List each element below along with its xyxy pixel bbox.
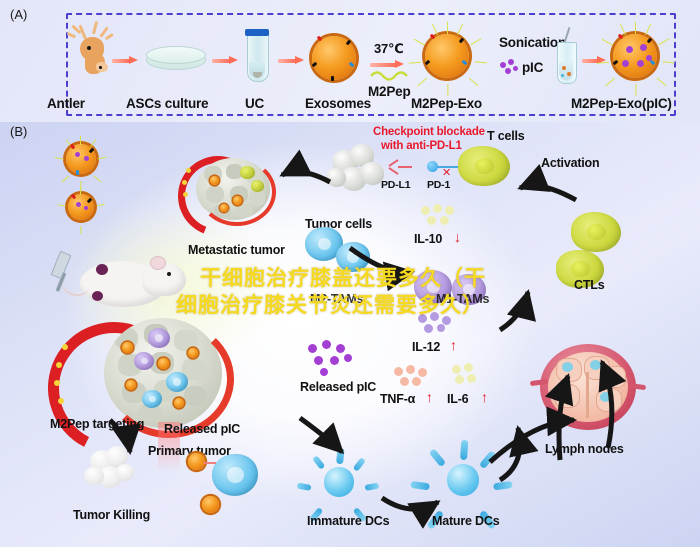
panel-b-label-il-6: IL-6 xyxy=(447,392,468,406)
panel-b-label-activation: Activation xyxy=(541,156,599,170)
panel-b-letter: (B) xyxy=(10,124,27,139)
panel-a-label-m2pep-exo: M2Pep-Exo xyxy=(411,96,482,111)
t-cell-icon xyxy=(458,146,510,186)
tnf-alpha-up-arrow-icon: ↑ xyxy=(426,390,433,404)
figure-root: (A) Antler ASCs culture xyxy=(0,0,700,547)
arrow-to-m2pep-exo-pic xyxy=(582,56,606,65)
panel-b-label-pd-1: PD-1 xyxy=(427,179,450,191)
ctl-cell-1-icon xyxy=(571,212,621,252)
panel-b-label-tnf-alpha: TNF-α xyxy=(380,392,415,406)
checkpoint-blockade-line1: Checkpoint blockade xyxy=(373,126,485,138)
panel-a-label-m2pep: M2Pep xyxy=(368,84,411,99)
panel-b: (B) xyxy=(0,122,700,547)
panel-b-label-pd-l1: PD-L1 xyxy=(381,179,410,191)
arrow-uc-to-exosomes xyxy=(278,56,304,65)
panel-b-label-tumor-killing: Tumor Killing xyxy=(73,508,150,522)
panel-a-label-pic: pIC xyxy=(522,60,543,75)
targeted-macrophage-icon xyxy=(212,454,258,496)
arrow-exosome-to-m2pep-exo xyxy=(370,60,404,69)
panel-a-label-uc: UC xyxy=(245,96,264,111)
panel-b-label-primary-tumor: Released pIC xyxy=(164,422,240,436)
panel-a-label-exosomes: Exosomes xyxy=(305,96,371,111)
panel-b-label-apoptosis: M2Pep targeting xyxy=(50,417,144,431)
mature-dc-icon xyxy=(434,452,492,508)
panel-b-label-il-12: IL-12 xyxy=(412,340,440,354)
immature-dc-icon xyxy=(312,456,366,508)
panel-b-label-t-cells: T cells xyxy=(487,129,525,143)
il-6-up-arrow-icon: ↑ xyxy=(481,390,488,404)
panel-b-label-lymph-nodes: Lymph nodes xyxy=(545,442,624,456)
panel-b-label-immature-dcs: Immature DCs xyxy=(307,514,389,528)
il-10-down-arrow-icon: ↓ xyxy=(454,230,461,244)
panel-a-letter: (A) xyxy=(10,7,27,22)
panel-b-label-released-pic: Released pIC xyxy=(300,380,376,394)
panel-a-label-ascs-culture: ASCs culture xyxy=(126,96,208,111)
panel-a-label-temperature: 37℃ xyxy=(374,41,404,57)
panel-a-label-sonication: Sonication xyxy=(499,35,566,50)
panel-a-label-m2pep-exo-pic: M2Pep-Exo(pIC) xyxy=(571,96,672,111)
watermark-line-2: 细胞治疗膝关节炎还需要多久） xyxy=(176,289,484,319)
panel-b-label-metastatic-tumor: Metastatic tumor xyxy=(188,243,285,257)
panel-b-label-il-10: IL-10 xyxy=(414,232,442,246)
arrow-culture-to-uc xyxy=(212,56,238,65)
arrow-antler-to-culture xyxy=(112,56,138,65)
checkpoint-blockade-line2: with anti-PD-L1 xyxy=(381,140,462,152)
panel-a-label-antler: Antler xyxy=(47,96,85,111)
targeting-exosome-2-icon xyxy=(202,496,219,513)
blockade-x-icon: ✕ xyxy=(442,168,451,179)
il-12-up-arrow-icon: ↑ xyxy=(450,338,457,352)
watermark-line-1: 干细胞治疗膝盖还要多久（干 xyxy=(200,262,486,292)
panel-a: (A) Antler ASCs culture xyxy=(0,0,700,122)
panel-b-label-mature-dcs: Mature DCs xyxy=(432,514,499,528)
panel-b-label-ctls: CTLs xyxy=(574,278,604,292)
